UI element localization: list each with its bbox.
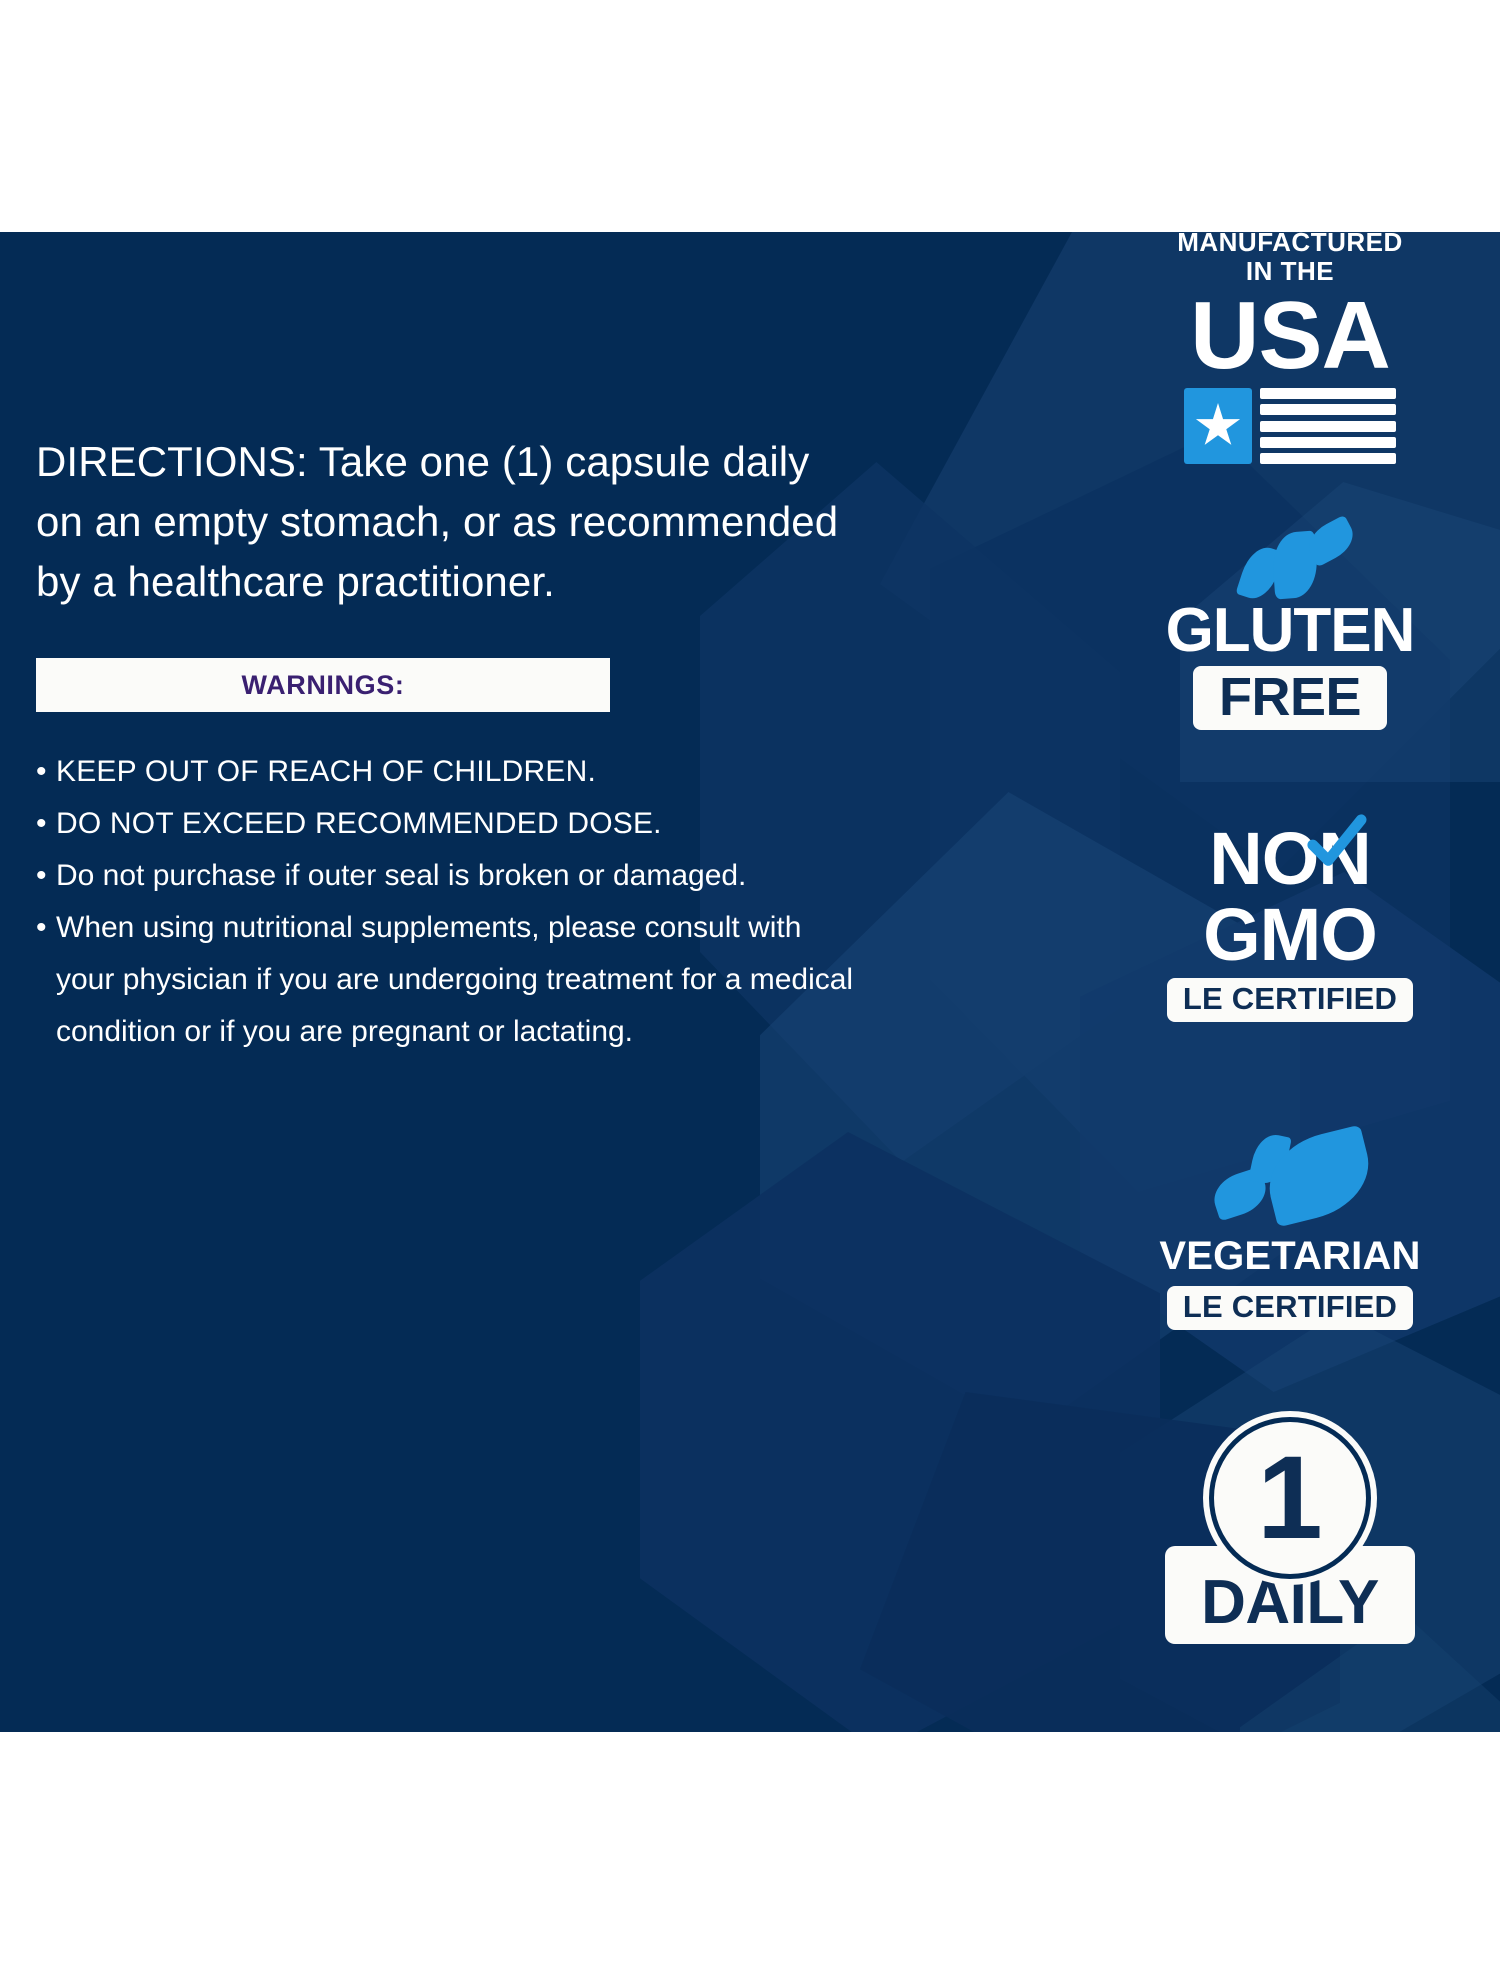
supplement-label-panel: DIRECTIONS: Take one (1) capsule daily o… — [0, 232, 1500, 1732]
non-gmo-certified-text: LE CERTIFIED — [1183, 981, 1397, 1016]
usa-flag-icon — [1184, 388, 1396, 464]
star-icon — [1195, 403, 1241, 449]
warning-item: • KEEP OUT OF REACH OF CHILDREN. — [36, 746, 866, 798]
bullet-icon: • — [36, 746, 56, 798]
background-facet — [640, 1132, 1160, 1732]
warning-item-text: DO NOT EXCEED RECOMMENDED DOSE. — [56, 798, 866, 850]
wheat-sprig-icon — [1215, 524, 1365, 598]
warning-item: • Do not purchase if outer seal is broke… — [36, 850, 866, 902]
warning-item-text: When using nutritional supplements, plea… — [56, 902, 866, 1058]
vegetarian-word: VEGETARIAN — [1159, 1234, 1420, 1278]
usa-badge-line1: MANUFACTURED — [1177, 232, 1403, 256]
vegetarian-certified-container: LE CERTIFIED — [1167, 1286, 1413, 1330]
gluten-free-boxed-word: FREE — [1219, 667, 1361, 727]
warning-item: • When using nutritional supplements, pl… — [36, 902, 866, 1058]
leaf-icon — [1205, 1132, 1375, 1224]
badge-vegetarian: VEGETARIAN LE CERTIFIED — [1145, 1132, 1435, 1330]
badge-manufactured-in-usa: MANUFACTURED IN THE USA — [1145, 232, 1435, 464]
bullet-icon: • — [36, 902, 56, 954]
directions-text: DIRECTIONS: Take one (1) capsule daily o… — [36, 432, 866, 612]
checkmark-icon — [1305, 812, 1367, 874]
daily-number-circle: 1 — [1214, 1422, 1366, 1574]
flag-canton — [1184, 388, 1252, 464]
warnings-banner: WARNINGS: — [36, 658, 610, 712]
non-gmo-certified-container: LE CERTIFIED — [1167, 978, 1413, 1022]
warnings-heading: WARNINGS: — [242, 670, 405, 701]
gluten-free-word: GLUTEN — [1166, 600, 1415, 662]
warning-item: • DO NOT EXCEED RECOMMENDED DOSE. — [36, 798, 866, 850]
certification-badge-column: MANUFACTURED IN THE USA — [1145, 232, 1435, 1732]
gluten-free-boxed-word-container: FREE — [1193, 666, 1387, 730]
daily-number: 1 — [1257, 1439, 1323, 1557]
vegetarian-certified-text: LE CERTIFIED — [1183, 1289, 1397, 1324]
non-gmo-line2: GMO — [1203, 896, 1377, 974]
badge-gluten-free: GLUTEN FREE — [1145, 524, 1435, 730]
warning-item-text: KEEP OUT OF REACH OF CHILDREN. — [56, 746, 866, 798]
badge-one-daily: 1 DAILY — [1145, 1422, 1435, 1644]
label-text-column: DIRECTIONS: Take one (1) capsule daily o… — [36, 432, 866, 1058]
usa-badge-word: USA — [1190, 288, 1390, 384]
bullet-icon: • — [36, 798, 56, 850]
bullet-icon: • — [36, 850, 56, 902]
badge-non-gmo: NON GMO LE CERTIFIED — [1145, 822, 1435, 1022]
warning-item-text: Do not purchase if outer seal is broken … — [56, 850, 866, 902]
flag-stripes — [1260, 388, 1396, 464]
daily-word: DAILY — [1201, 1572, 1379, 1634]
warnings-list: • KEEP OUT OF REACH OF CHILDREN. • DO NO… — [36, 746, 866, 1058]
non-gmo-line1-row: NON — [1209, 822, 1370, 896]
